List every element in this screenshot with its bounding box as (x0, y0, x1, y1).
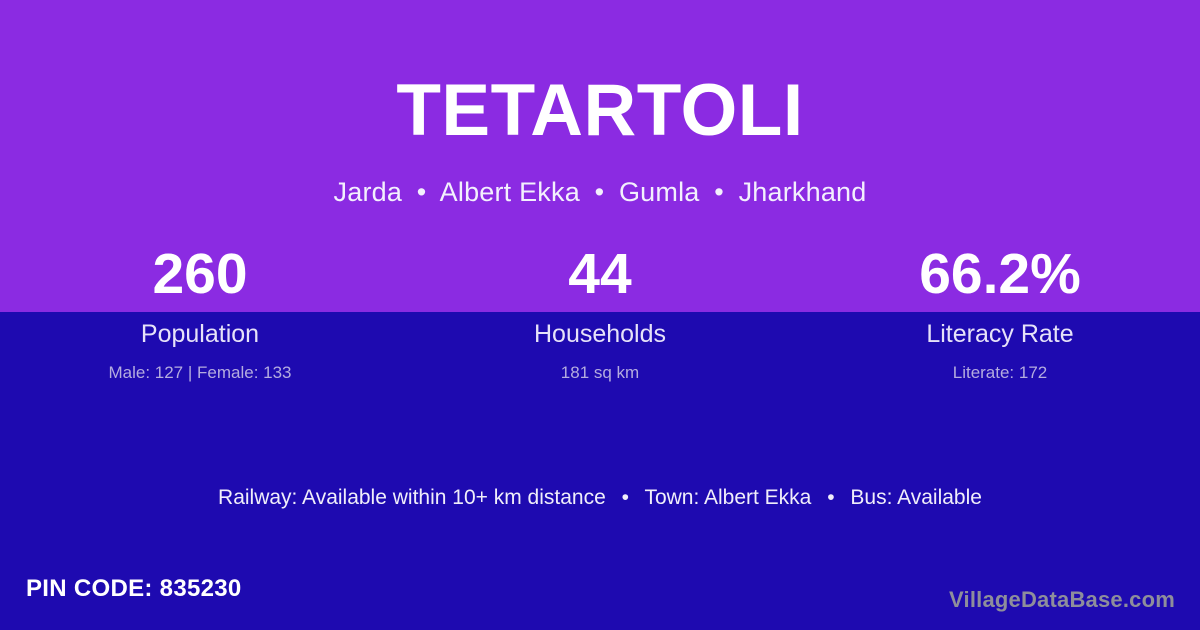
bullet-separator-icon: • (707, 177, 731, 207)
stat-detail: Male: 127 | Female: 133 (0, 364, 400, 381)
infra-item-town: Town: Albert Ekka (644, 486, 811, 509)
bullet-separator-icon: • (410, 177, 434, 207)
stat-label: Households (400, 322, 800, 347)
bullet-separator-icon: • (612, 486, 639, 509)
breadcrumb: Jarda • Albert Ekka • Gumla • Jharkhand (0, 179, 1200, 206)
stat-literacy-rate: 66.2% Literacy Rate Literate: 172 (800, 246, 1200, 381)
bullet-separator-icon: • (817, 486, 844, 509)
stat-value: 260 (0, 246, 400, 304)
infra-item-railway: Railway: Available within 10+ km distanc… (218, 486, 606, 509)
stats-row: 260 Population Male: 127 | Female: 133 4… (0, 246, 1200, 381)
pin-code-label: PIN CODE: 835230 (26, 577, 242, 601)
stat-label: Population (0, 322, 400, 347)
infrastructure-summary: Railway: Available within 10+ km distanc… (0, 487, 1200, 508)
breadcrumb-item-state: Jharkhand (739, 177, 867, 207)
site-watermark: VillageDataBase.com (949, 589, 1175, 611)
stat-value: 66.2% (800, 246, 1200, 304)
stat-value: 44 (400, 246, 800, 304)
page-title: TETARTOLI (0, 74, 1200, 147)
stat-households: 44 Households 181 sq km (400, 246, 800, 381)
breadcrumb-item-block: Jarda (334, 177, 403, 207)
breadcrumb-item-district: Gumla (619, 177, 700, 207)
stat-label: Literacy Rate (800, 322, 1200, 347)
infra-item-bus: Bus: Available (850, 486, 982, 509)
stat-population: 260 Population Male: 127 | Female: 133 (0, 246, 400, 381)
village-data-card: TETARTOLI Jarda • Albert Ekka • Gumla • … (0, 0, 1200, 630)
stat-detail: Literate: 172 (800, 364, 1200, 381)
title-block: TETARTOLI Jarda • Albert Ekka • Gumla • … (0, 74, 1200, 206)
breadcrumb-item-subdistrict: Albert Ekka (440, 177, 580, 207)
bullet-separator-icon: • (588, 177, 612, 207)
stat-detail: 181 sq km (400, 364, 800, 381)
